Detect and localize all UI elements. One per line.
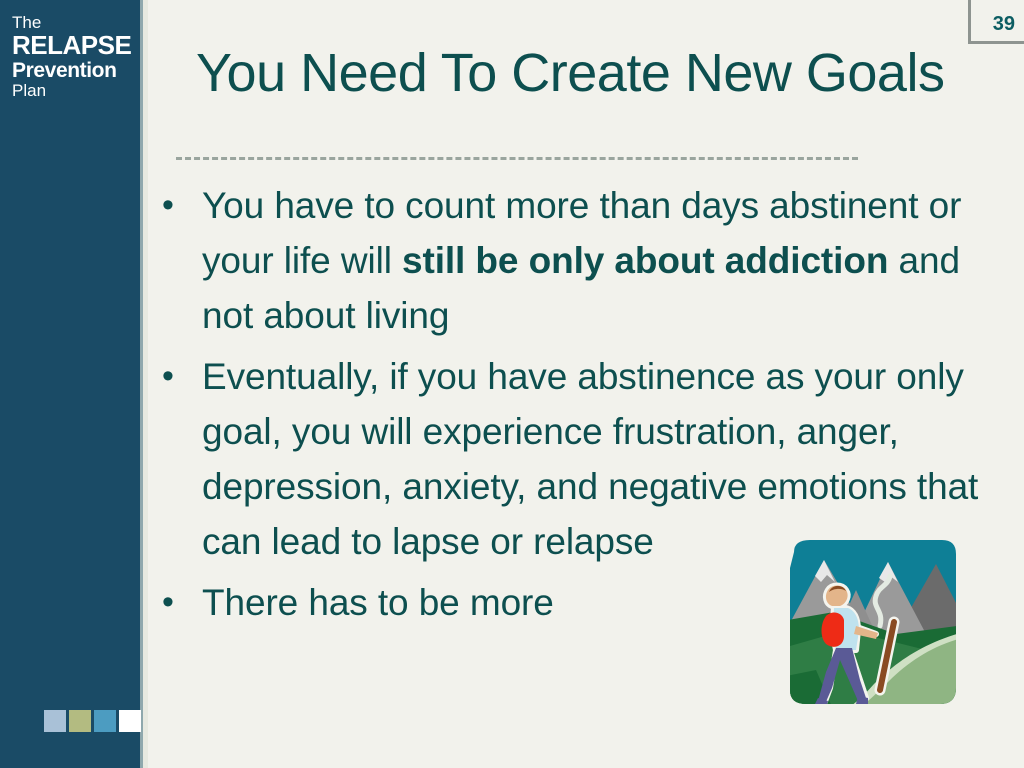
bullet-glyph: • <box>156 349 202 404</box>
list-item: • You have to count more than days absti… <box>156 178 1006 343</box>
bullet-text: You have to count more than days abstine… <box>202 178 1006 343</box>
swatch-blue <box>94 710 116 732</box>
bullet-text-bold-1: still be only about addiction <box>402 240 888 281</box>
logo-line-the: The <box>12 14 136 31</box>
slide: The RELAPSE Prevention Plan 39 You Need … <box>0 0 1024 768</box>
brand-logo: The RELAPSE Prevention Plan <box>12 14 136 100</box>
sidebar <box>0 0 140 768</box>
bullet-text: Eventually, if you have abstinence as yo… <box>202 349 1006 569</box>
bullet-text-plain-3: There has to be more <box>202 582 554 623</box>
logo-line-plan: Plan <box>12 82 136 99</box>
logo-line-relapse: RELAPSE <box>12 32 136 59</box>
bullet-text-plain-2: Eventually, if you have abstinence as yo… <box>202 356 978 562</box>
sidebar-edge-highlight <box>143 0 148 768</box>
page-number-badge: 39 <box>968 0 1024 44</box>
page-number: 39 <box>971 13 1015 36</box>
hiker-mountains-icon <box>776 538 972 716</box>
swatch-light-blue <box>44 710 66 732</box>
page-title: You Need To Create New Goals <box>196 42 996 104</box>
list-item: • Eventually, if you have abstinence as … <box>156 349 1006 569</box>
bullet-glyph: • <box>156 178 202 233</box>
swatch-white <box>119 710 141 732</box>
logo-line-prevention: Prevention <box>12 60 136 81</box>
color-swatch-strip <box>44 710 141 732</box>
bullet-glyph: • <box>156 575 202 630</box>
swatch-olive <box>69 710 91 732</box>
title-divider <box>176 157 858 160</box>
